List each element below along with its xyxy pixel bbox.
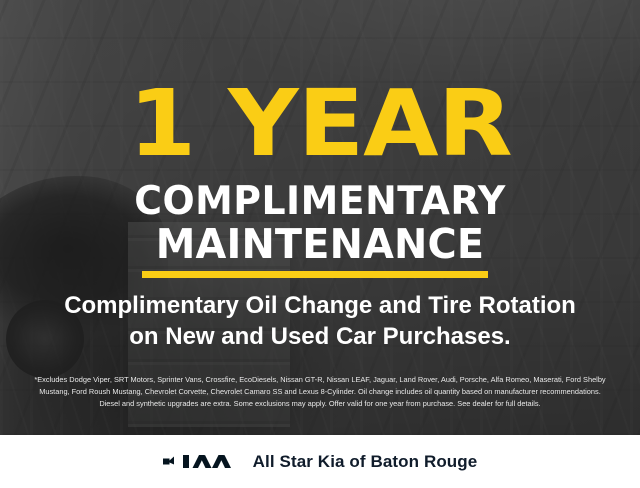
- headline-line-1: COMPLIMENTARY: [134, 179, 506, 224]
- footer-bar: All Star Kia of Baton Rouge: [0, 435, 640, 488]
- disclaimer-line-1: *Excludes Dodge Viper, SRT Motors, Sprin…: [16, 374, 624, 386]
- accent-rule: [142, 271, 488, 278]
- hero-section: 1 YEAR COMPLIMENTARY MAINTENANCE Complim…: [0, 0, 640, 435]
- disclaimer-line-3: Diesel and synthetic upgrades are extra.…: [16, 398, 624, 410]
- promo-banner: 1 YEAR COMPLIMENTARY MAINTENANCE Complim…: [0, 0, 640, 488]
- disclaimer-line-2: Mustang, Ford Roush Mustang, Chevrolet C…: [16, 386, 624, 398]
- hero-copy: 1 YEAR COMPLIMENTARY MAINTENANCE Complim…: [0, 0, 640, 435]
- offer-line-1: Complimentary Oil Change and Tire Rotati…: [64, 292, 576, 319]
- kia-logo-icon: [163, 451, 235, 472]
- headline-line-2: MAINTENANCE: [10, 223, 631, 265]
- disclaimer-text: *Excludes Dodge Viper, SRT Motors, Sprin…: [16, 374, 624, 411]
- offer-text: Complimentary Oil Change and Tire Rotati…: [0, 290, 640, 352]
- headline-subtitle: COMPLIMENTARY MAINTENANCE: [10, 181, 631, 265]
- offer-line-2: on New and Used Car Purchases.: [0, 321, 640, 352]
- headline-year: 1 YEAR: [0, 76, 640, 172]
- dealer-name: All Star Kia of Baton Rouge: [253, 452, 478, 472]
